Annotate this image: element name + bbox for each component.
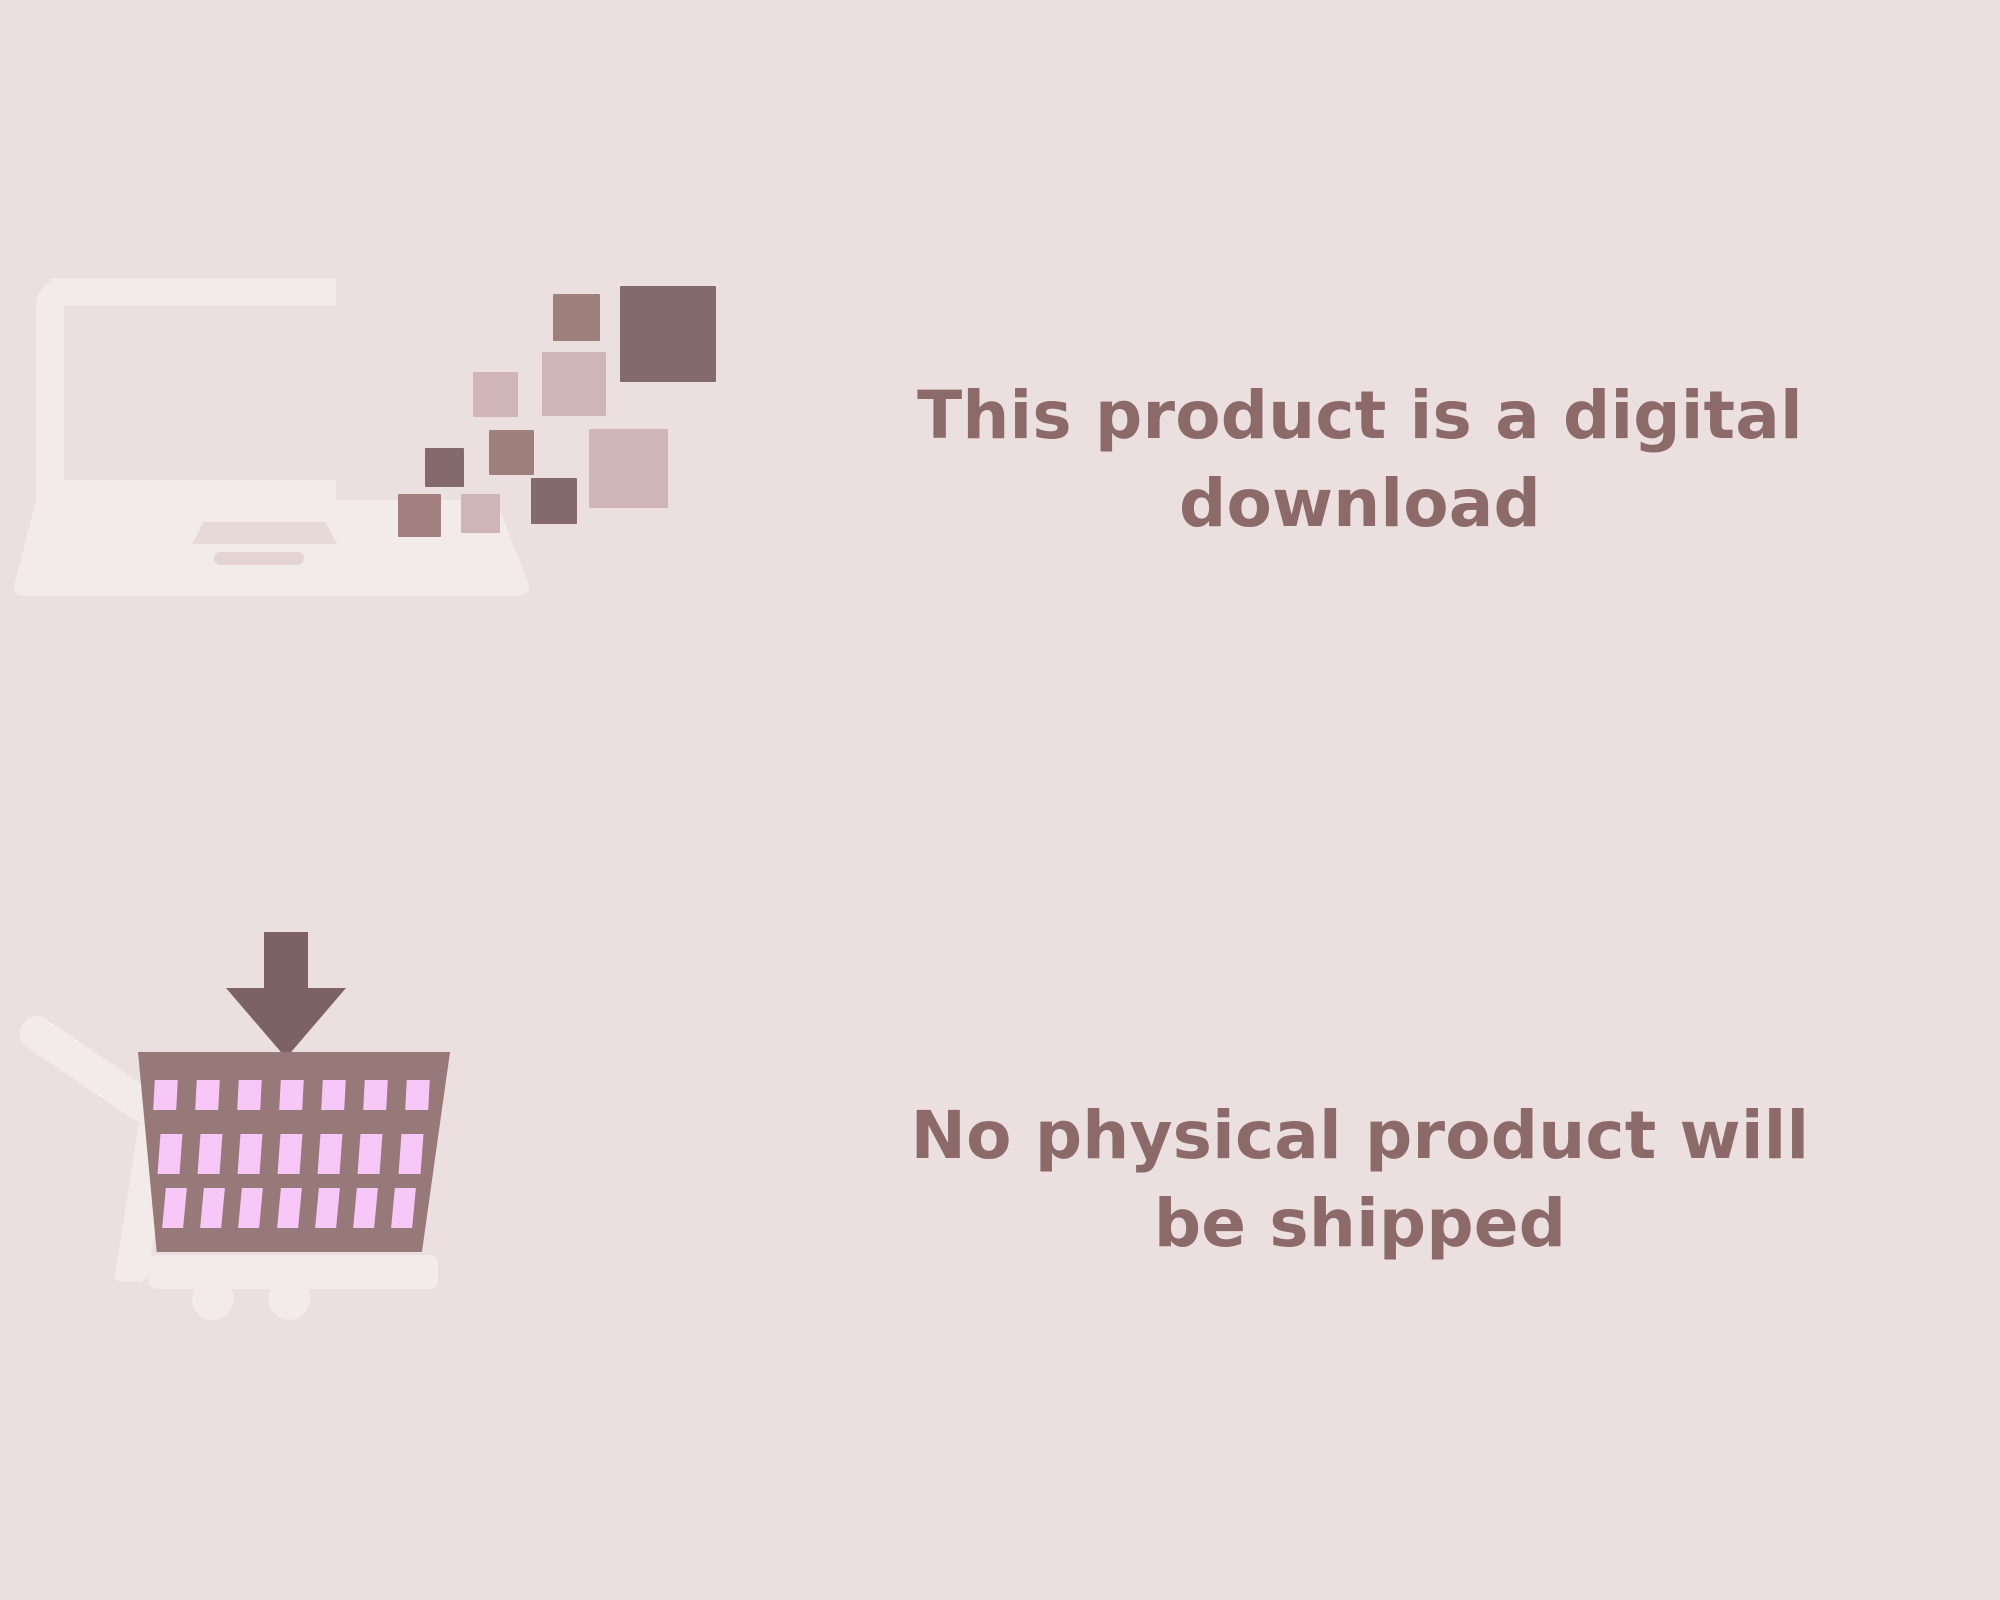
cart-wheel-right [268, 1278, 310, 1320]
headline-line-1: No physical product will [911, 1097, 1810, 1174]
no-shipping-headline: No physical product will be shipped [780, 1092, 1940, 1269]
basket-hole [237, 1080, 262, 1110]
shopping-cart-download-icon [20, 930, 540, 1430]
cart-basket-holes [138, 1052, 450, 1252]
arrow-stem [264, 932, 308, 994]
basket-hole [318, 1134, 343, 1174]
basket-hole [321, 1080, 346, 1110]
laptop-base-shape [10, 500, 530, 596]
basket-hole [363, 1080, 388, 1110]
basket-hole [198, 1134, 223, 1174]
pixel-square-4 [473, 372, 518, 417]
laptop-base-notch [214, 552, 304, 565]
pixel-square-2 [620, 286, 716, 382]
basket-hole [315, 1188, 340, 1228]
basket-hole [398, 1134, 423, 1174]
headline-line-2: be shipped [1154, 1185, 1566, 1262]
cart-basket [138, 1052, 450, 1252]
pixel-square-8 [398, 494, 441, 537]
arrow-head [226, 988, 346, 1058]
basket-hole [358, 1134, 383, 1174]
basket-hole [162, 1188, 187, 1228]
digital-download-headline: This product is a digital download [780, 372, 1940, 549]
info-row-no-shipping: No physical product will be shipped [0, 900, 2000, 1460]
cart-wheel-left [192, 1278, 234, 1320]
info-row-digital-download: This product is a digital download [0, 180, 2000, 740]
digital-download-text-cell: This product is a digital download [780, 372, 1960, 549]
no-shipping-text-cell: No physical product will be shipped [780, 1092, 1960, 1269]
pixel-square-1 [553, 294, 600, 341]
pixel-square-10 [531, 478, 577, 524]
laptop-screen-frame [36, 278, 336, 508]
basket-hole [238, 1134, 263, 1174]
pixel-square-7 [589, 429, 668, 508]
pixel-square-5 [489, 430, 534, 475]
download-arrow-icon [226, 932, 346, 1058]
basket-hole [392, 1188, 417, 1228]
headline-line-2: download [1179, 465, 1541, 542]
poster-canvas: This product is a digital download [0, 0, 2000, 1600]
pixel-square-9 [461, 494, 500, 533]
laptop-screen-top-edge [50, 278, 270, 306]
basket-hole [238, 1188, 263, 1228]
basket-hole [153, 1080, 178, 1110]
basket-hole [200, 1188, 225, 1228]
basket-hole [353, 1188, 378, 1228]
pixel-square-6 [425, 448, 464, 487]
basket-hole [157, 1134, 182, 1174]
laptop-trackpad [192, 522, 337, 544]
laptop-base [10, 500, 530, 596]
pixel-square-3 [542, 352, 606, 416]
basket-hole [278, 1134, 303, 1174]
cart-icon-cell [0, 900, 780, 1460]
basket-hole [279, 1080, 304, 1110]
laptop-icon-cell [0, 180, 780, 740]
basket-hole [195, 1080, 220, 1110]
basket-hole [277, 1188, 302, 1228]
headline-line-1: This product is a digital [917, 377, 1803, 454]
basket-hole [405, 1080, 430, 1110]
